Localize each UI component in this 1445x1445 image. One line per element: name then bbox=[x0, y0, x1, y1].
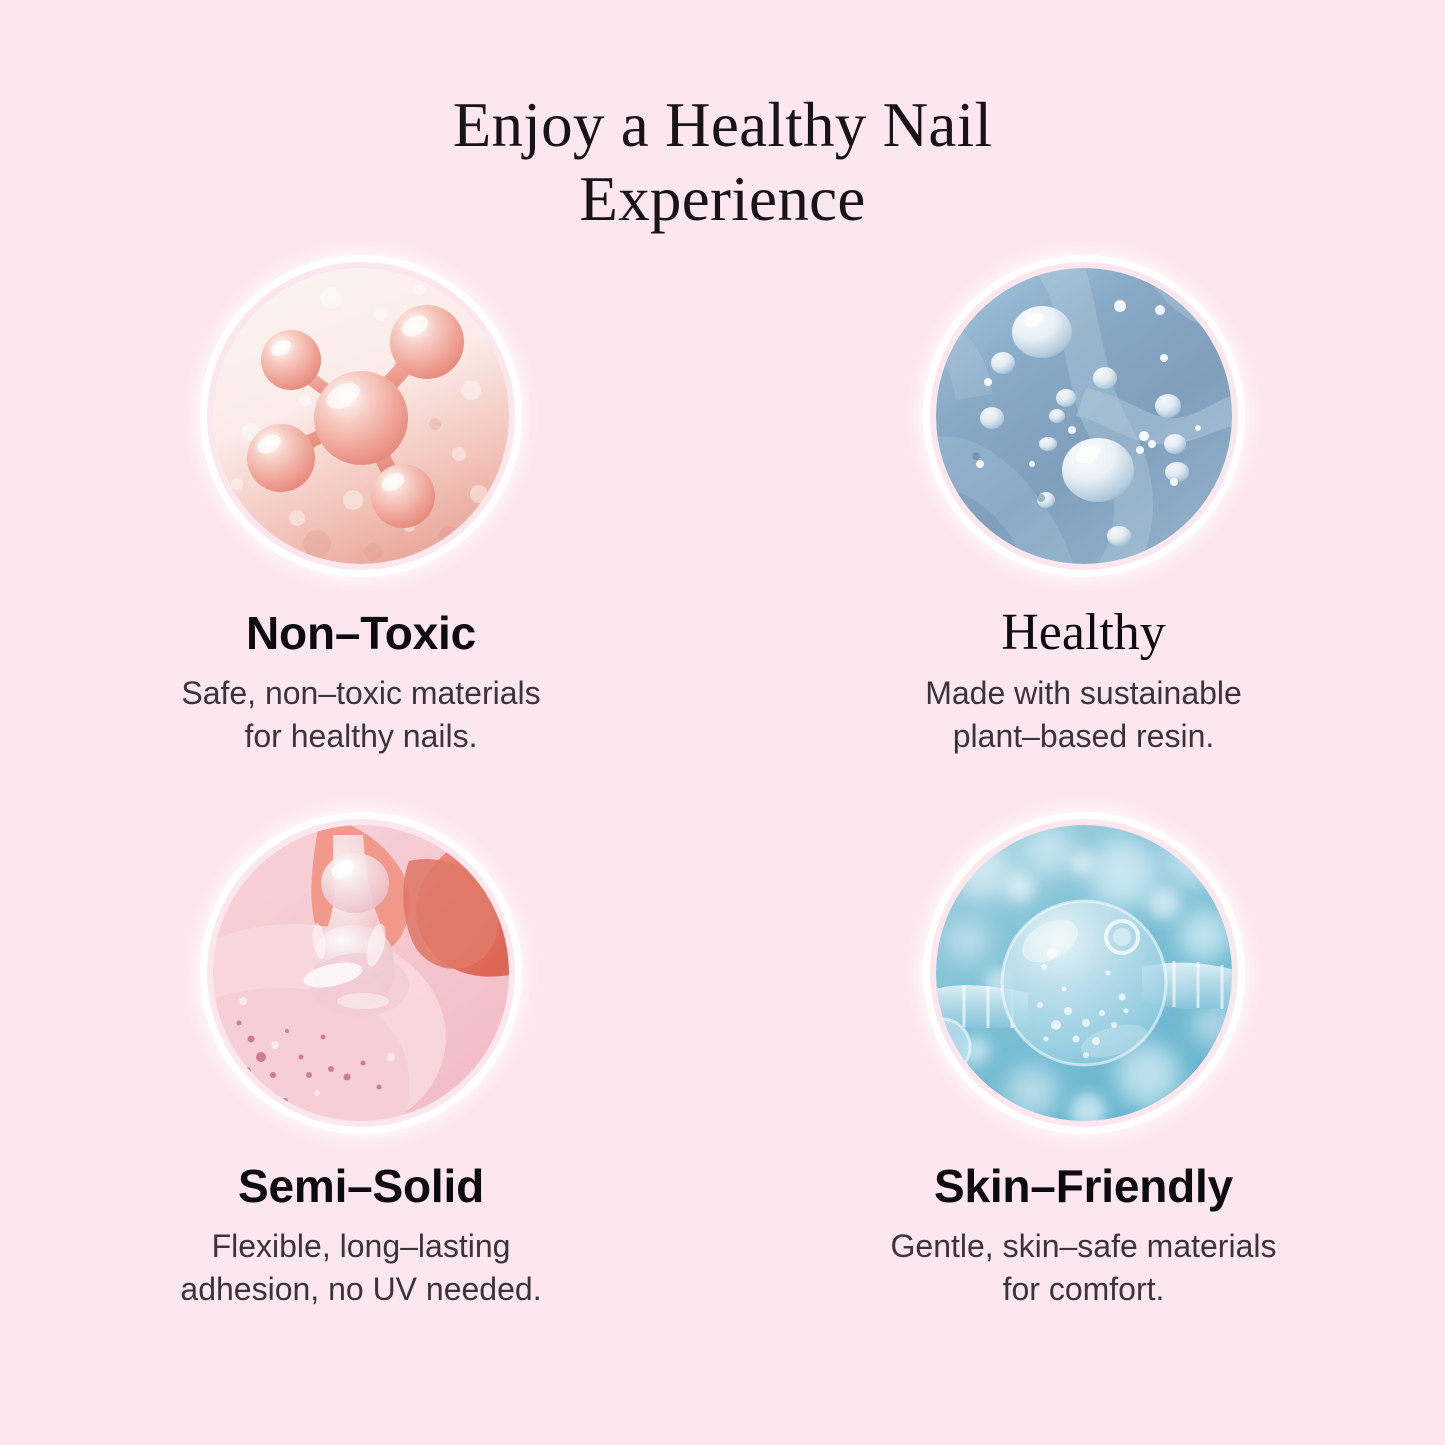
page-title: Enjoy a Healthy Nail Experience bbox=[0, 88, 1445, 236]
promo-page: Enjoy a Healthy Nail Experience bbox=[0, 0, 1445, 1445]
feature-description-healthy: Made with sustainable plant–based resin. bbox=[925, 672, 1242, 758]
feature-description-line-2: adhesion, no UV needed. bbox=[180, 1271, 541, 1307]
page-title-line-2: Experience bbox=[0, 162, 1445, 236]
feature-description-line-1: Made with sustainable bbox=[925, 675, 1242, 711]
blue-droplets-graphic bbox=[936, 268, 1232, 564]
blue-sphere-graphic bbox=[936, 825, 1232, 1121]
feature-card-semi-solid: Semi–Solid Flexible, long–lasting adhesi… bbox=[0, 815, 722, 1311]
blue-water-droplets-image bbox=[936, 268, 1232, 564]
feature-description-semi-solid: Flexible, long–lasting adhesion, no UV n… bbox=[180, 1225, 541, 1311]
feature-card-skin-friendly: Skin–Friendly Gentle, skin–safe material… bbox=[722, 815, 1445, 1311]
page-title-line-1: Enjoy a Healthy Nail bbox=[0, 88, 1445, 162]
feature-description-line-2: plant–based resin. bbox=[953, 718, 1215, 754]
pink-molecule-graphic bbox=[213, 268, 509, 564]
pink-gel-graphic bbox=[213, 825, 509, 1121]
feature-description-skin-friendly: Gentle, skin–safe materials for comfort. bbox=[891, 1225, 1277, 1311]
feature-heading-semi-solid: Semi–Solid bbox=[238, 1159, 484, 1213]
blue-sphere-bubble-image bbox=[936, 825, 1232, 1121]
pink-molecule-structure-image bbox=[213, 268, 509, 564]
feature-description-line-1: Gentle, skin–safe materials bbox=[891, 1228, 1277, 1264]
feature-heading-skin-friendly: Skin–Friendly bbox=[934, 1159, 1233, 1213]
feature-heading-healthy: Healthy bbox=[1001, 606, 1166, 660]
feature-heading-non-toxic: Non–Toxic bbox=[246, 606, 476, 660]
feature-description-line-2: for comfort. bbox=[1003, 1271, 1165, 1307]
feature-description-non-toxic: Safe, non–toxic materials for healthy na… bbox=[181, 672, 540, 758]
feature-description-line-1: Safe, non–toxic materials bbox=[181, 675, 540, 711]
feature-grid: Non–Toxic Safe, non–toxic materials for … bbox=[0, 268, 1445, 1311]
pink-gel-droplet-image bbox=[213, 825, 509, 1121]
feature-card-non-toxic: Non–Toxic Safe, non–toxic materials for … bbox=[0, 268, 722, 815]
feature-description-line-2: for healthy nails. bbox=[244, 718, 477, 754]
feature-description-line-1: Flexible, long–lasting bbox=[212, 1228, 511, 1264]
feature-card-healthy: Healthy Made with sustainable plant–base… bbox=[722, 268, 1445, 815]
